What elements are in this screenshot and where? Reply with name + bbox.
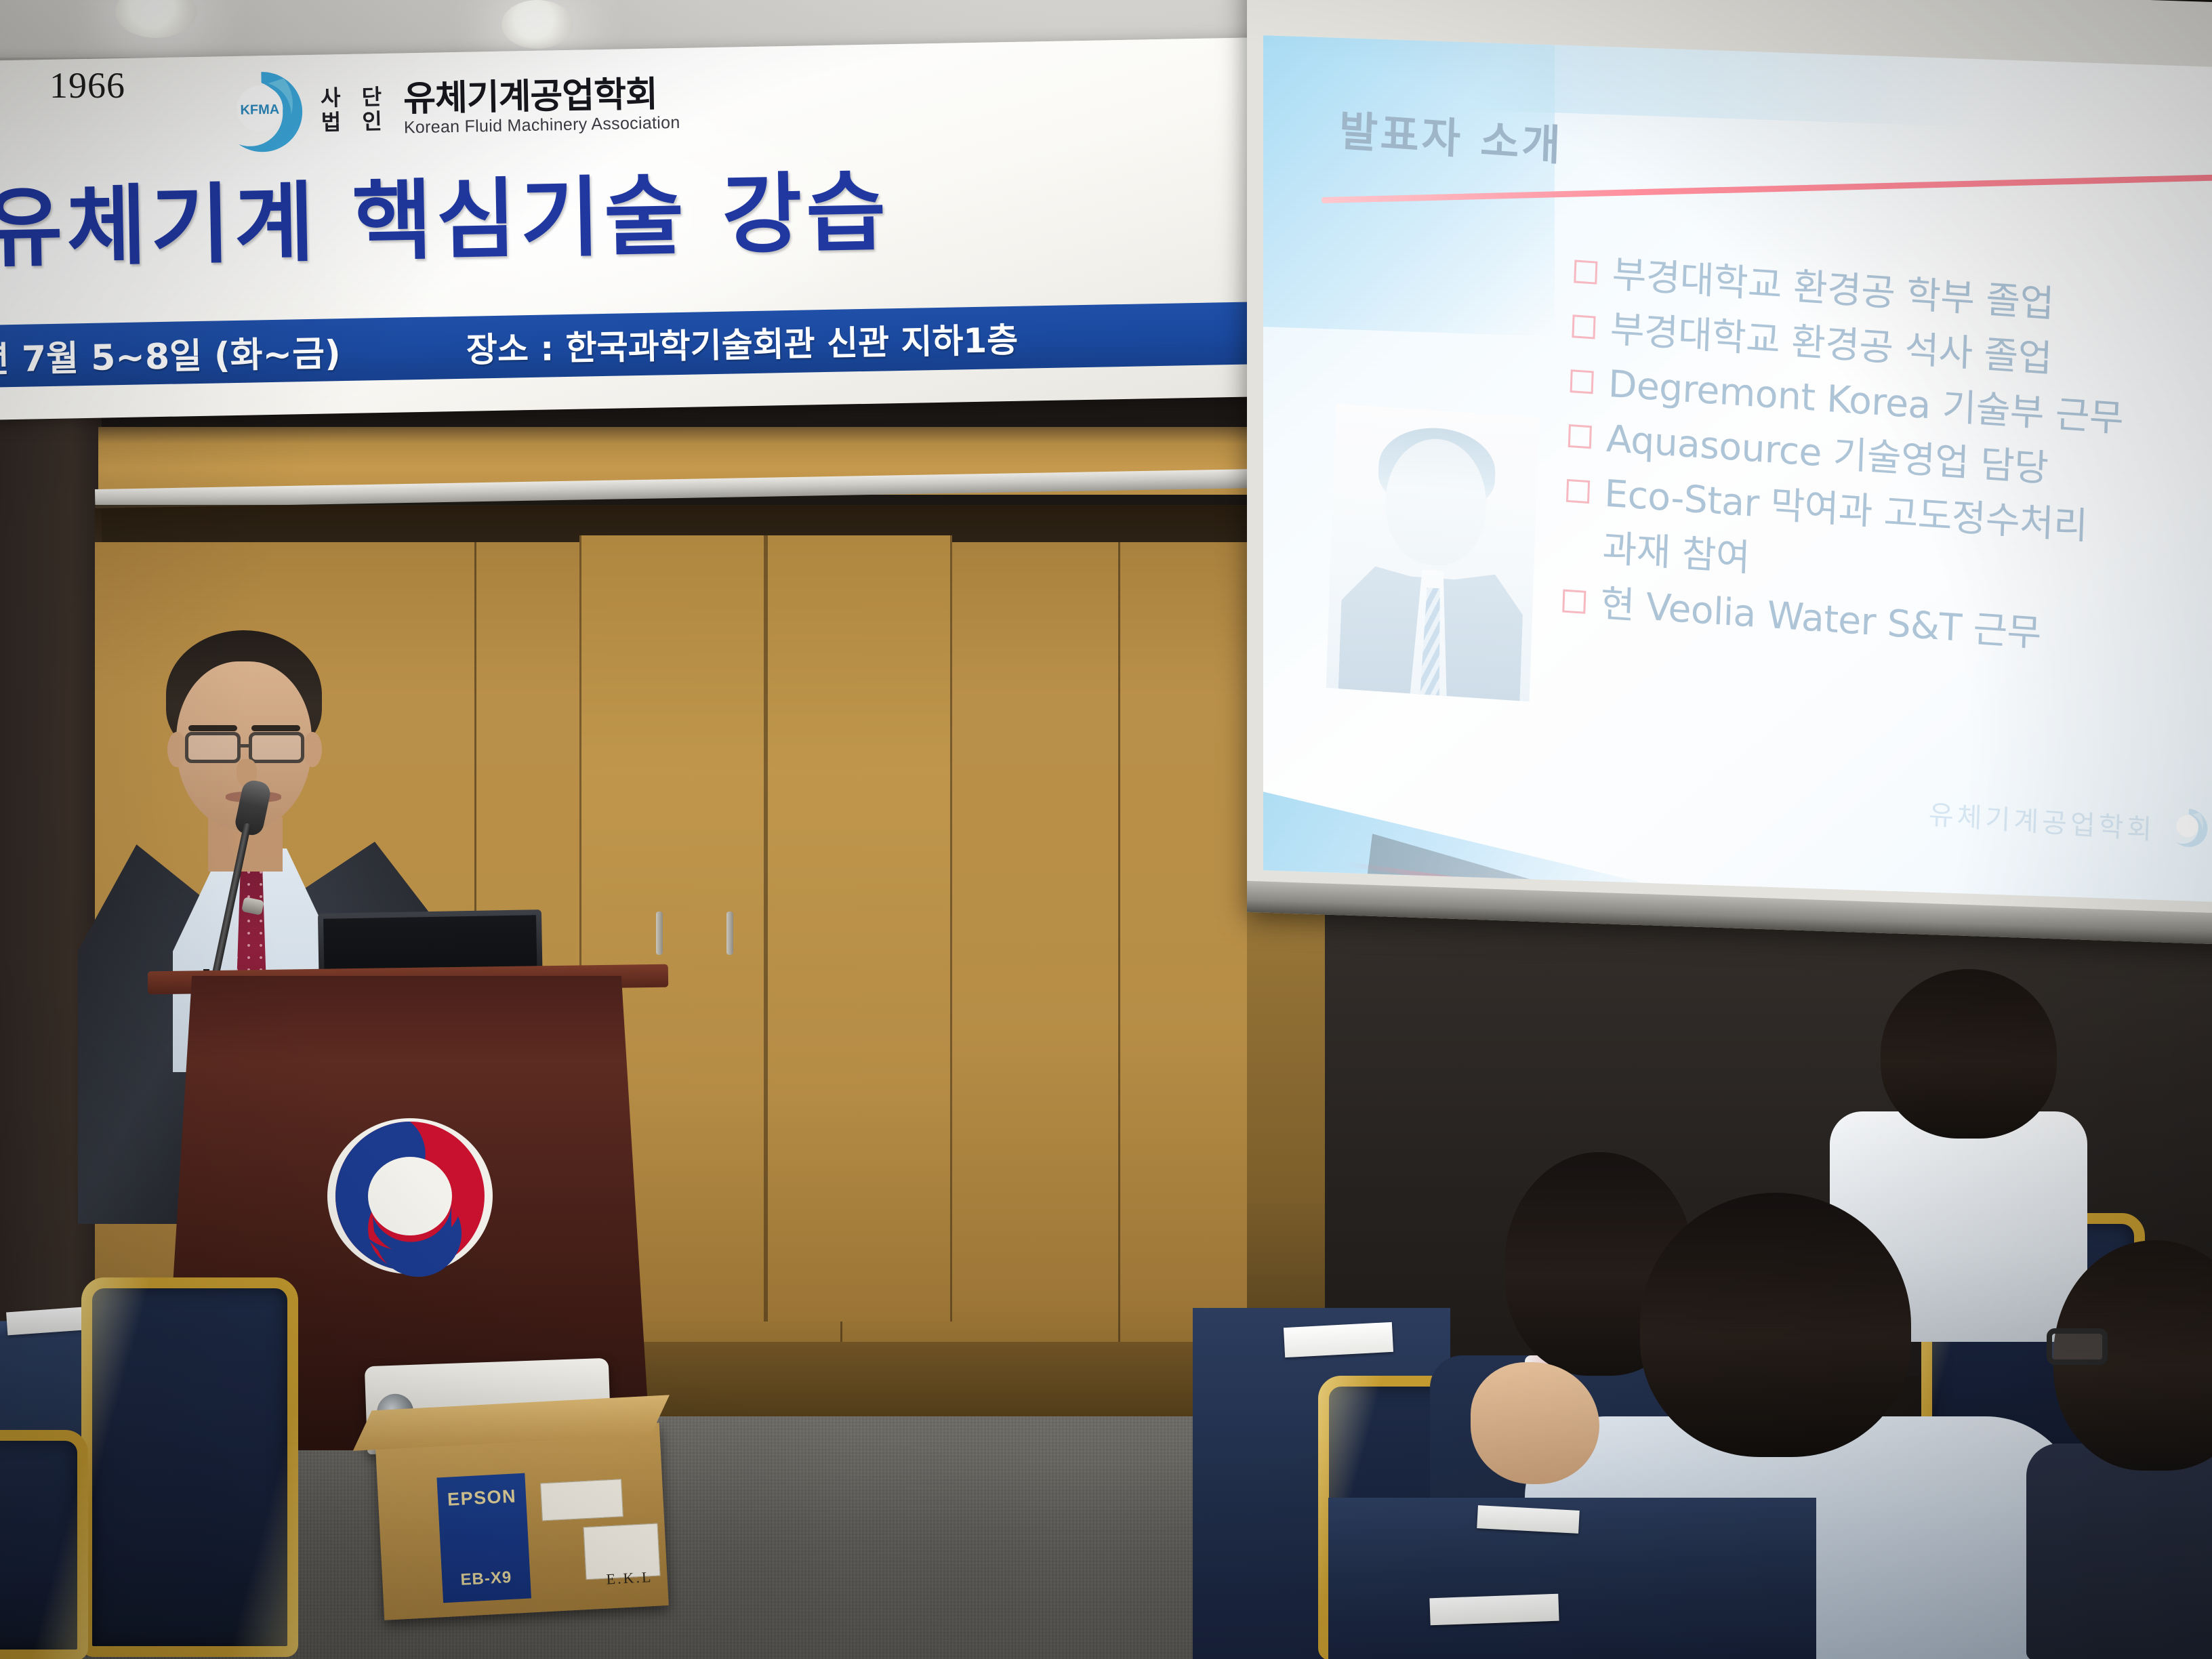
chair-foreground-far-left[interactable]: [0, 1430, 88, 1659]
kfma-name-korean: 유체기계공업학회: [403, 76, 680, 116]
audience-hand: [1471, 1362, 1599, 1484]
wood-seam: [1118, 542, 1120, 1410]
door-handle-right[interactable]: [726, 912, 733, 955]
eyeglasses-icon-left: [185, 732, 241, 763]
checkbox-icon: [1562, 589, 1586, 613]
slide-presenter-photo: [1326, 404, 1539, 702]
wall-door-right[interactable]: [766, 535, 952, 1322]
kfma-names: 유체기계공업학회 Korean Fluid Machinery Associat…: [403, 76, 680, 137]
slide-corner-gradient: [1263, 35, 1555, 336]
checkbox-icon: [1566, 479, 1590, 504]
speaker-eyebrow-left: [188, 725, 237, 731]
chair-frame: [81, 1277, 298, 1657]
projector-shipping-box: EPSON EB-X9 E.K.L: [375, 1422, 669, 1620]
box-brand-label: EPSON EB-X9: [436, 1473, 531, 1603]
photo-scene: KFMA 사 단 법 인 유체기계공업학회 Korean Fluid Machi…: [0, 0, 2212, 1659]
kfma-swirl-icon: KFMA: [217, 67, 306, 157]
eyeglasses-bridge: [241, 744, 250, 747]
projection-screen: 발표자 소개 부경대학교 환경공 학부 졸업 부: [1247, 0, 2212, 928]
banner-info-bar: 년 7월 5~8일 (화~금) 장소 : 한국과학기술회관 신관 지하1층: [0, 301, 1294, 388]
audience-person-far-right: [2040, 1240, 2212, 1659]
ceiling-light-right: [501, 0, 573, 49]
kfma-logo-block: KFMA 사 단 법 인 유체기계공업학회 Korean Fluid Machi…: [217, 60, 680, 157]
kofst-emblem-icon: [325, 1115, 495, 1277]
podium-emblem-year: 1966: [3, 4, 172, 167]
banner-date-text: 년 7월 5~8일 (화~금): [0, 325, 341, 382]
slide-footer-text: 유체기계공업학회: [1928, 792, 2156, 847]
eyeglasses-icon-audience: [2047, 1328, 2108, 1365]
kfma-name-english: Korean Fluid Machinery Association: [404, 112, 680, 137]
audience-paper-right: [1429, 1594, 1559, 1626]
box-brand-text: EPSON: [447, 1486, 517, 1510]
chair-foreground-left[interactable]: [81, 1277, 298, 1657]
event-banner: KFMA 사 단 법 인 유체기계공업학회 Korean Fluid Machi…: [0, 37, 1294, 419]
right-wood-strip: [1247, 901, 1328, 1376]
box-model-text: EB-X9: [460, 1568, 512, 1590]
audience-paper-left: [1284, 1322, 1393, 1357]
chair-frame: [0, 1430, 88, 1659]
kfma-swirl-icon-footer: [2167, 806, 2210, 854]
kfma-prefix-line2: 법 인: [321, 110, 389, 134]
speaker-ear-left: [167, 732, 186, 767]
eyeglasses-icon-right: [249, 732, 304, 763]
checkbox-icon: [1574, 260, 1597, 284]
box-code-text: E.K.L: [606, 1568, 653, 1589]
banner-place-text: 장소 : 한국과학기술회관 신관 지하1층: [466, 313, 1019, 372]
slide-footer: 유체기계공업학회: [1928, 790, 2210, 854]
kfma-prefix: 사 단 법 인: [321, 86, 389, 134]
speaker-ear-right: [303, 732, 322, 767]
door-handle-left[interactable]: [656, 912, 663, 955]
kfma-mark-text: KFMA: [240, 102, 279, 118]
audience-head: [1640, 1193, 1911, 1457]
screen-surface: 발표자 소개 부경대학교 환경공 학부 졸업 부: [1263, 35, 2212, 903]
checkbox-icon: [1570, 369, 1594, 394]
checkbox-icon: [1568, 424, 1592, 449]
banner-headline: 유체기계 핵심기술 강습: [0, 163, 1271, 273]
audience-body: [2026, 1443, 2212, 1659]
audience-head: [1881, 969, 2057, 1139]
checkbox-icon: [1572, 314, 1595, 339]
kfma-prefix-line1: 사 단: [321, 86, 389, 110]
bullet-text: 과재 참여: [1601, 526, 1750, 581]
slide-bullet-list: 부경대학교 환경공 학부 졸업 부경대학교 환경공 석사 졸업 Degremon…: [1561, 249, 2212, 680]
box-spec-sticker: [540, 1479, 623, 1521]
speaker-eyebrow-right: [251, 725, 300, 731]
presentation-slide: 발표자 소개 부경대학교 환경공 학부 졸업 부: [1263, 35, 2212, 903]
